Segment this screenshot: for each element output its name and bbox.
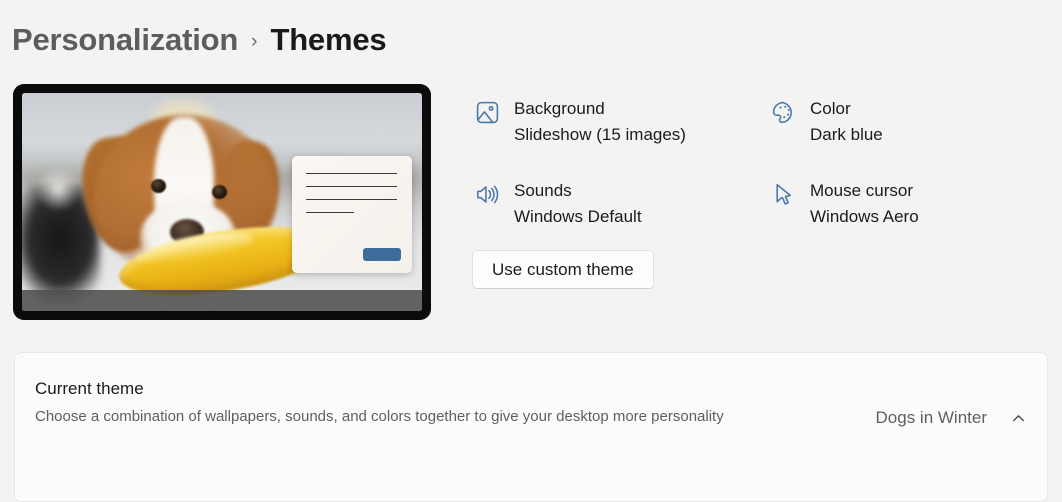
breadcrumb-parent-personalization[interactable]: Personalization xyxy=(12,22,238,58)
theme-attribute-background[interactable]: Background Slideshow (15 images) xyxy=(472,96,768,148)
theme-attribute-value: Slideshow (15 images) xyxy=(514,121,686,148)
palette-icon xyxy=(768,97,798,127)
theme-attributes-row: Background Slideshow (15 images) Color D… xyxy=(472,96,1052,148)
speaker-icon xyxy=(472,179,502,209)
page-title: Themes xyxy=(270,22,386,58)
sample-window-accent-button xyxy=(363,248,401,261)
current-theme-title: Current theme xyxy=(35,377,876,401)
sample-window-line xyxy=(306,186,397,187)
preview-sample-window xyxy=(292,156,412,273)
theme-attribute-mouse-cursor[interactable]: Mouse cursor Windows Aero xyxy=(768,178,1052,230)
sample-window-line xyxy=(306,199,397,200)
cursor-icon xyxy=(768,179,798,209)
theme-attribute-value: Windows Default xyxy=(514,203,642,230)
preview-taskbar xyxy=(22,290,422,311)
chevron-up-icon[interactable] xyxy=(1007,407,1029,429)
breadcrumb: Personalization › Themes xyxy=(12,14,386,66)
current-theme-card[interactable]: Current theme Choose a combination of wa… xyxy=(14,352,1048,502)
theme-preview-screen xyxy=(22,93,422,311)
theme-preview[interactable] xyxy=(13,84,431,320)
wallpaper-dog-eye-right xyxy=(212,185,227,199)
theme-attributes-row: Sounds Windows Default Mouse cursor Wind… xyxy=(472,178,1052,230)
theme-attributes: Background Slideshow (15 images) Color D… xyxy=(472,96,1052,260)
chevron-right-icon: › xyxy=(251,32,257,51)
theme-attribute-value: Dark blue xyxy=(810,121,883,148)
current-theme-text: Current theme Choose a combination of wa… xyxy=(35,377,876,429)
image-icon xyxy=(472,97,502,127)
theme-attribute-title: Mouse cursor xyxy=(810,179,919,203)
sample-window-line xyxy=(306,173,397,174)
use-custom-theme-button[interactable]: Use custom theme xyxy=(472,250,654,289)
wallpaper-background-dog-highlight xyxy=(36,167,80,211)
theme-attribute-title: Background xyxy=(514,97,686,121)
theme-attribute-value: Windows Aero xyxy=(810,203,919,230)
sample-window-line xyxy=(306,212,354,213)
wallpaper-dog-eye-left xyxy=(151,179,166,193)
current-theme-value: Dogs in Winter xyxy=(876,408,987,428)
theme-attribute-sounds[interactable]: Sounds Windows Default xyxy=(472,178,768,230)
theme-attribute-title: Color xyxy=(810,97,883,121)
theme-attribute-color[interactable]: Color Dark blue xyxy=(768,96,1052,148)
theme-attribute-title: Sounds xyxy=(514,179,642,203)
current-theme-control: Dogs in Winter xyxy=(876,407,1029,429)
current-theme-description: Choose a combination of wallpapers, soun… xyxy=(35,404,835,429)
